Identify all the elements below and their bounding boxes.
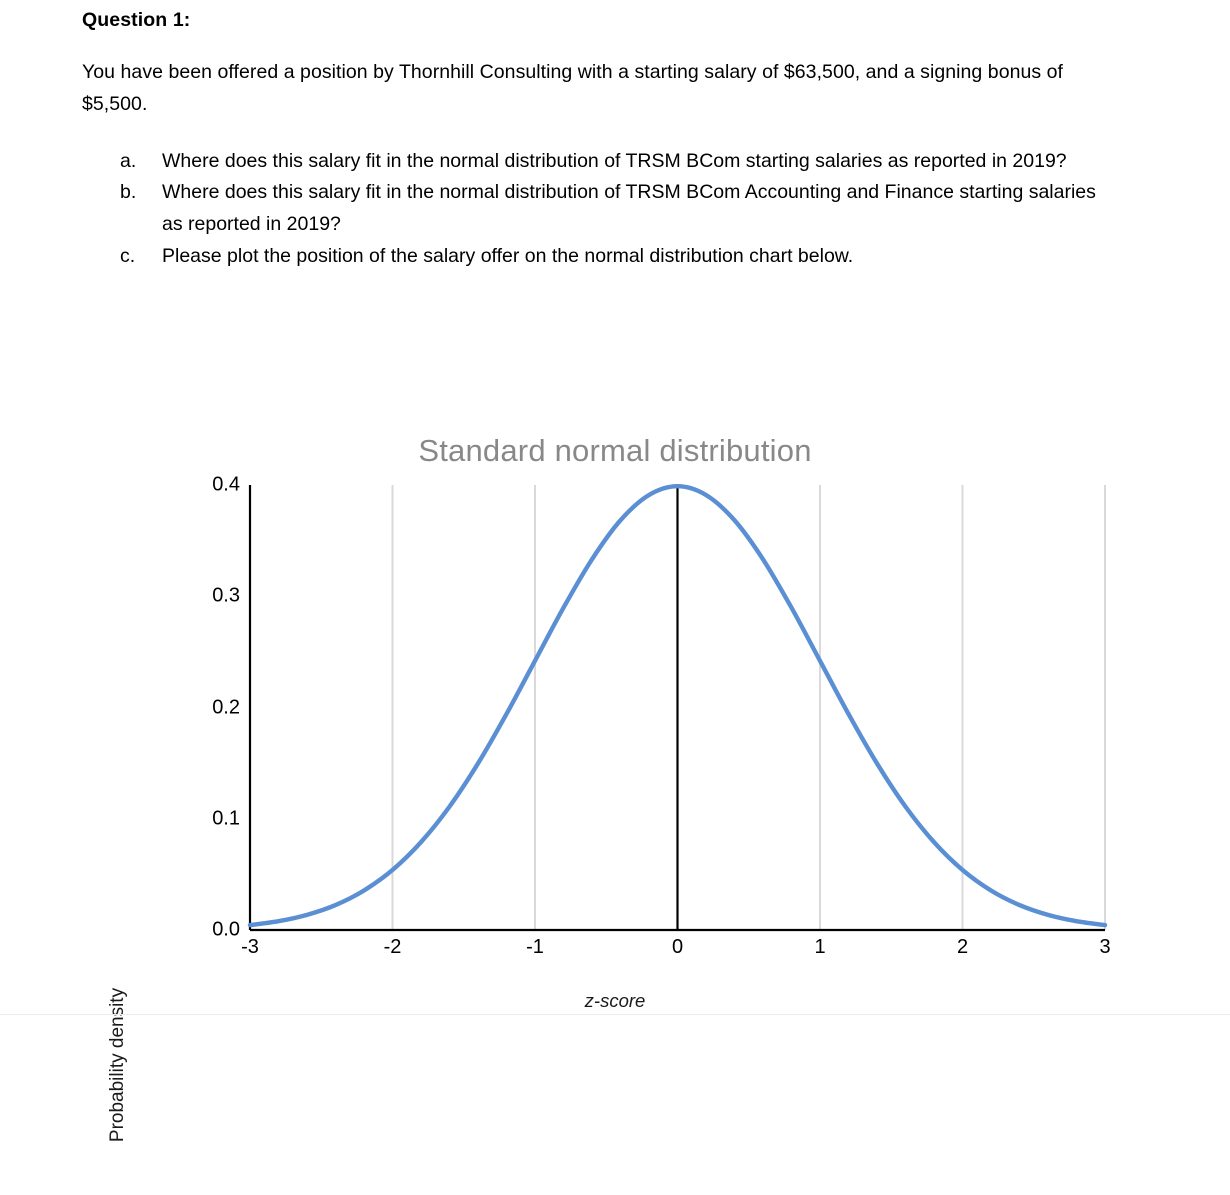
list-item-marker: b. bbox=[120, 177, 162, 241]
list-item: c. Please plot the position of the salar… bbox=[82, 241, 1112, 273]
x-axis-tick-labels: -3-2-10123 bbox=[0, 936, 1230, 966]
x-tick-label: -1 bbox=[505, 936, 565, 959]
list-item-marker: c. bbox=[120, 241, 162, 273]
list-item-marker: a. bbox=[120, 146, 162, 178]
page-bottom-divider bbox=[0, 1014, 1230, 1015]
x-tick-label: 1 bbox=[790, 936, 850, 959]
y-tick-label: 0.2 bbox=[190, 696, 240, 719]
list-item-text: Where does this salary fit in the normal… bbox=[162, 146, 1102, 178]
y-axis-tick-labels: 0.00.10.20.30.4 bbox=[188, 400, 240, 1020]
question-intro-paragraph: You have been offered a position by Thor… bbox=[82, 33, 1104, 120]
y-tick-label: 0.4 bbox=[190, 474, 240, 497]
x-tick-label: 3 bbox=[1075, 936, 1135, 959]
page-title: Question 1: bbox=[82, 0, 1112, 33]
list-item-text: Where does this salary fit in the normal… bbox=[162, 177, 1102, 241]
normal-distribution-chart: Standard normal distribution 0.00.10.20.… bbox=[0, 400, 1230, 1020]
chart-plot-area bbox=[0, 400, 1230, 1020]
list-item: a. Where does this salary fit in the nor… bbox=[82, 146, 1112, 178]
x-axis-title: z-score bbox=[0, 990, 1230, 1012]
chart-gridlines bbox=[393, 485, 1106, 930]
question-document: Question 1: You have been offered a posi… bbox=[82, 0, 1112, 273]
x-tick-label: -2 bbox=[363, 936, 423, 959]
y-axis-title: Probability density bbox=[107, 935, 129, 1195]
x-tick-label: 2 bbox=[933, 936, 993, 959]
question-sub-items-list: a. Where does this salary fit in the nor… bbox=[82, 121, 1112, 274]
x-tick-label: 0 bbox=[648, 936, 708, 959]
y-tick-label: 0.3 bbox=[190, 585, 240, 608]
list-item: b. Where does this salary fit in the nor… bbox=[82, 177, 1112, 241]
list-item-text: Please plot the position of the salary o… bbox=[162, 241, 1102, 273]
y-tick-label: 0.1 bbox=[190, 807, 240, 830]
x-tick-label: -3 bbox=[220, 936, 280, 959]
